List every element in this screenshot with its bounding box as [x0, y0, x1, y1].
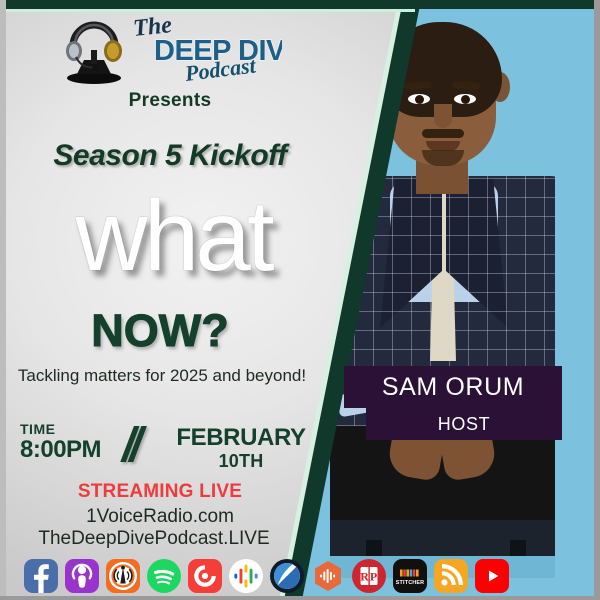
slash-separator: //	[122, 422, 137, 470]
rss-icon[interactable]	[434, 559, 468, 593]
time-value: 8:00PM	[20, 437, 101, 462]
overcast-icon[interactable]	[311, 559, 345, 593]
streaming-live-label: STREAMING LIVE	[10, 481, 310, 503]
frame-top-border	[0, 0, 600, 9]
svg-text:STITCHER: STITCHER	[396, 580, 425, 586]
time-group: TIME 8:00PM	[20, 422, 101, 462]
time-date-block: TIME 8:00PM // FEBRUARY 10TH	[14, 422, 314, 478]
frame-right-border	[594, 0, 600, 600]
url-primary[interactable]: 1VoiceRadio.com	[10, 506, 310, 528]
svg-text:R: R	[360, 570, 369, 584]
podbean-icon[interactable]	[270, 559, 304, 593]
apple-podcasts-icon[interactable]	[65, 559, 99, 593]
spotify-icon[interactable]	[147, 559, 181, 593]
google-podcasts-icon[interactable]	[229, 559, 263, 593]
svg-text:P: P	[370, 570, 377, 584]
headline-now: NOW?	[0, 305, 320, 357]
youtube-icon[interactable]	[475, 559, 509, 593]
host-role: HOST	[438, 414, 490, 435]
iheartradio-icon[interactable]	[106, 559, 140, 593]
tagline-text: Tackling matters for 2025 and beyond!	[12, 365, 312, 387]
host-role-banner: HOST	[366, 408, 562, 440]
headphones-on-stand-icon	[66, 25, 122, 84]
date-month: FEBRUARY	[166, 424, 316, 451]
host-name-banner: SAM ORUM	[344, 366, 562, 408]
headline-what: what	[8, 186, 338, 286]
date-day: 10TH	[166, 451, 316, 471]
season-kickoff-title: Season 5 Kickoff	[0, 139, 340, 173]
time-label: TIME	[20, 422, 101, 437]
stitcher-icon[interactable]: STITCHER	[393, 559, 427, 593]
platform-icon-strip: R P STITCHER	[0, 553, 600, 599]
host-name: SAM ORUM	[382, 373, 524, 402]
url-secondary[interactable]: TheDeepDivePodcast.LIVE	[4, 528, 304, 550]
deep-dive-podcast-logo: The DEEP DIVE Podcast	[62, 10, 282, 86]
facebook-icon[interactable]	[24, 559, 58, 593]
presents-label: Presents	[0, 90, 340, 112]
radiopublic-icon[interactable]: R P	[352, 559, 386, 593]
pocket-casts-icon[interactable]	[188, 559, 222, 593]
date-group: FEBRUARY 10TH	[166, 424, 316, 471]
podcast-promo-poster: The DEEP DIVE Podcast Presents Season 5 …	[0, 0, 600, 600]
